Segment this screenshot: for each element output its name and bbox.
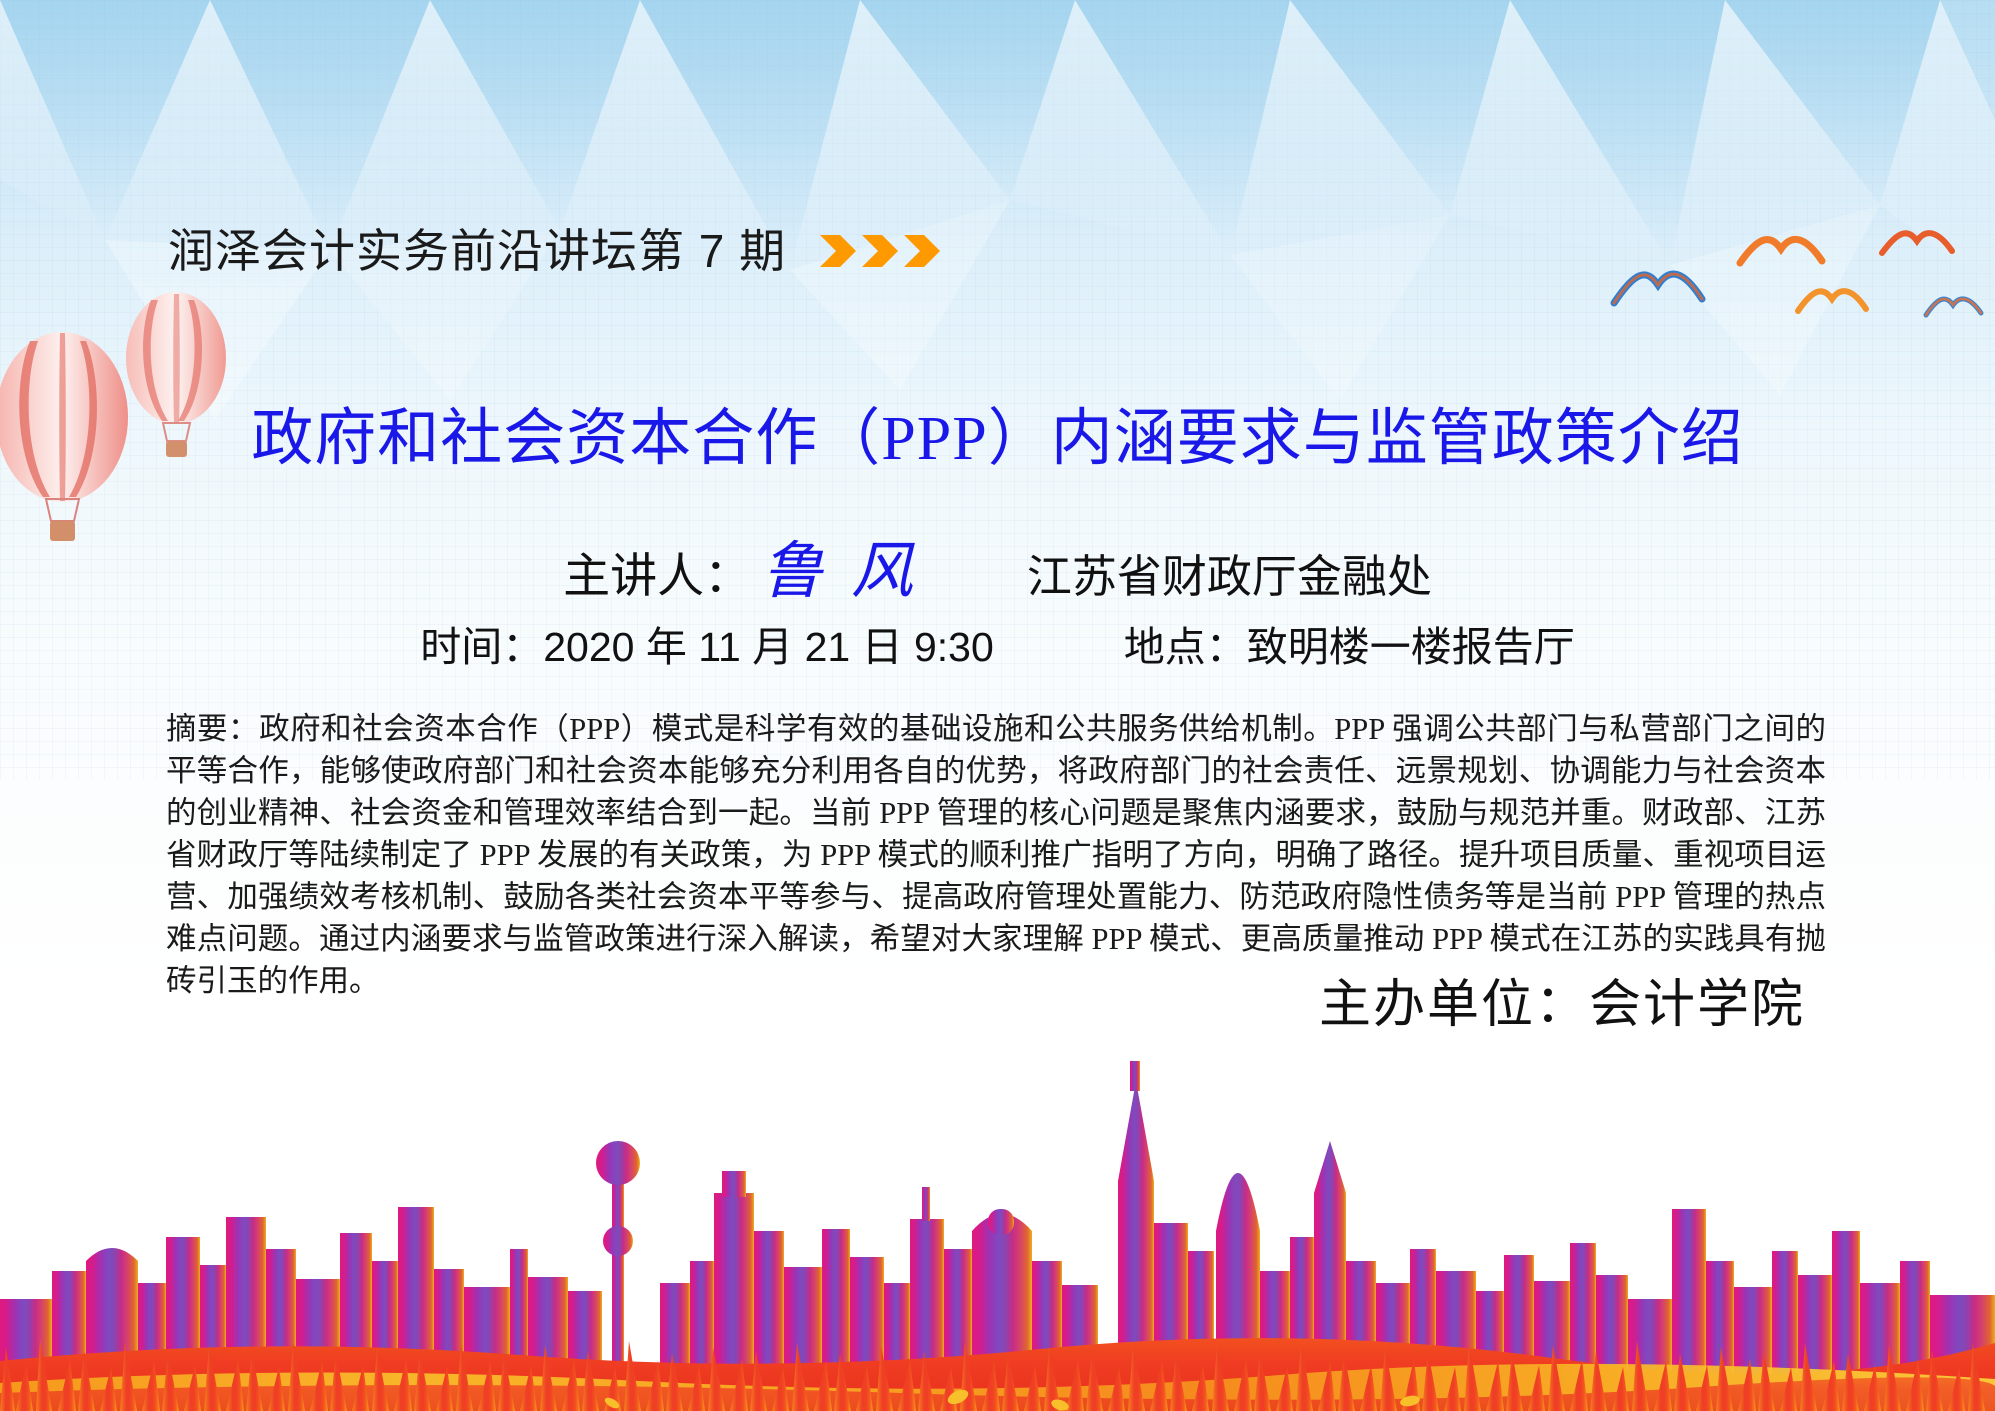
page-title: 政府和社会资本合作（PPP）内涵要求与监管政策介绍 [0,405,1995,474]
series-kicker-row: 润泽会计实务前沿讲坛第 7 期 [168,228,940,274]
speaker-name: 鲁 风 [761,520,917,610]
event-place: 地点：致明楼一楼报告厅 [1124,613,1575,673]
chevron-right-icon [862,231,898,271]
lecture-poster: 润泽会计实务前沿讲坛第 7 期 政府和社会资本合作（PPP）内涵要求与监管政策介… [0,0,1995,1411]
series-kicker: 润泽会计实务前沿讲坛第 7 期 [168,228,786,274]
speaker-affiliation: 江苏省财政厅金融处 [1027,540,1432,605]
time-place-row: 时间：2020 年 11 月 21 日 9:30 地点：致明楼一楼报告厅 [0,613,1995,673]
chevron-right-icon [904,231,940,271]
event-time: 时间：2020 年 11 月 21 日 9:30 [420,613,994,673]
organizer-text: 主办单位：会计学院 [1319,962,1805,1037]
speaker-row: 主讲人： 鲁 风 江苏省财政厅金融处 [0,520,1995,610]
chevron-group [820,231,940,271]
chevron-right-icon [820,231,856,271]
abstract-text: 摘要：政府和社会资本合作（PPP）模式是科学有效的基础设施和公共服务供给机制。P… [166,708,1826,1003]
poster-content: 润泽会计实务前沿讲坛第 7 期 政府和社会资本合作（PPP）内涵要求与监管政策介… [0,0,1995,1411]
speaker-label: 主讲人： [563,537,751,606]
